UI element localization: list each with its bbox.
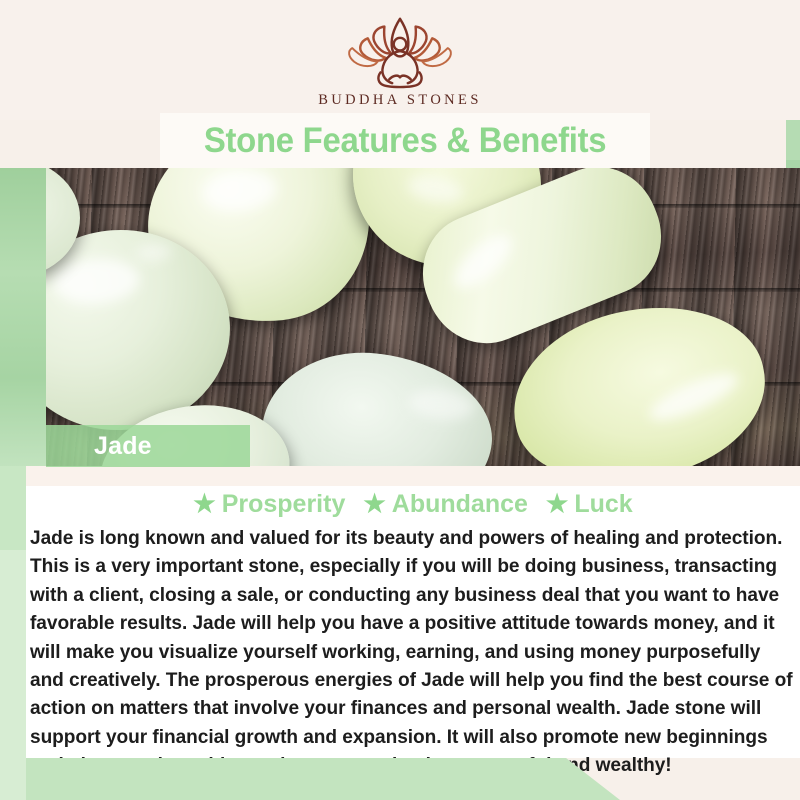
page-title: Stone Features & Benefits <box>204 121 606 161</box>
brand-logo: BUDDHA STONES <box>318 12 482 109</box>
benefit-label: Luck <box>574 490 632 519</box>
frame-accent-bottom-left <box>0 550 26 800</box>
star-icon: ★ <box>193 492 215 517</box>
star-icon: ★ <box>546 492 568 517</box>
benefits-row: ★ Prosperity ★ Abundance ★ Luck <box>26 486 800 521</box>
benefit-item: ★ Abundance <box>363 490 528 519</box>
stone-description: Jade is long known and valued for its be… <box>26 525 800 781</box>
stone-name-label: Jade <box>94 432 152 461</box>
brand-name: BUDDHA STONES <box>318 92 482 109</box>
infographic-card: BUDDHA STONES Stone Features & Benefits <box>0 0 800 800</box>
cream-divider <box>26 466 800 486</box>
lotus-meditation-icon <box>325 12 475 90</box>
section-title-banner: Stone Features & Benefits <box>160 113 650 168</box>
frame-accent-bottom <box>0 758 660 800</box>
brand-header: BUDDHA STONES <box>0 0 800 120</box>
benefit-item: ★ Prosperity <box>193 490 345 519</box>
stone-name-badge: Jade <box>46 425 250 467</box>
star-icon: ★ <box>363 492 385 517</box>
benefit-label: Abundance <box>392 490 528 519</box>
benefit-item: ★ Luck <box>546 490 633 519</box>
benefit-label: Prosperity <box>222 490 346 519</box>
content-panel: ★ Prosperity ★ Abundance ★ Luck Jade is … <box>26 486 800 758</box>
frame-accent-left <box>0 168 46 468</box>
stone-photo <box>0 168 800 466</box>
